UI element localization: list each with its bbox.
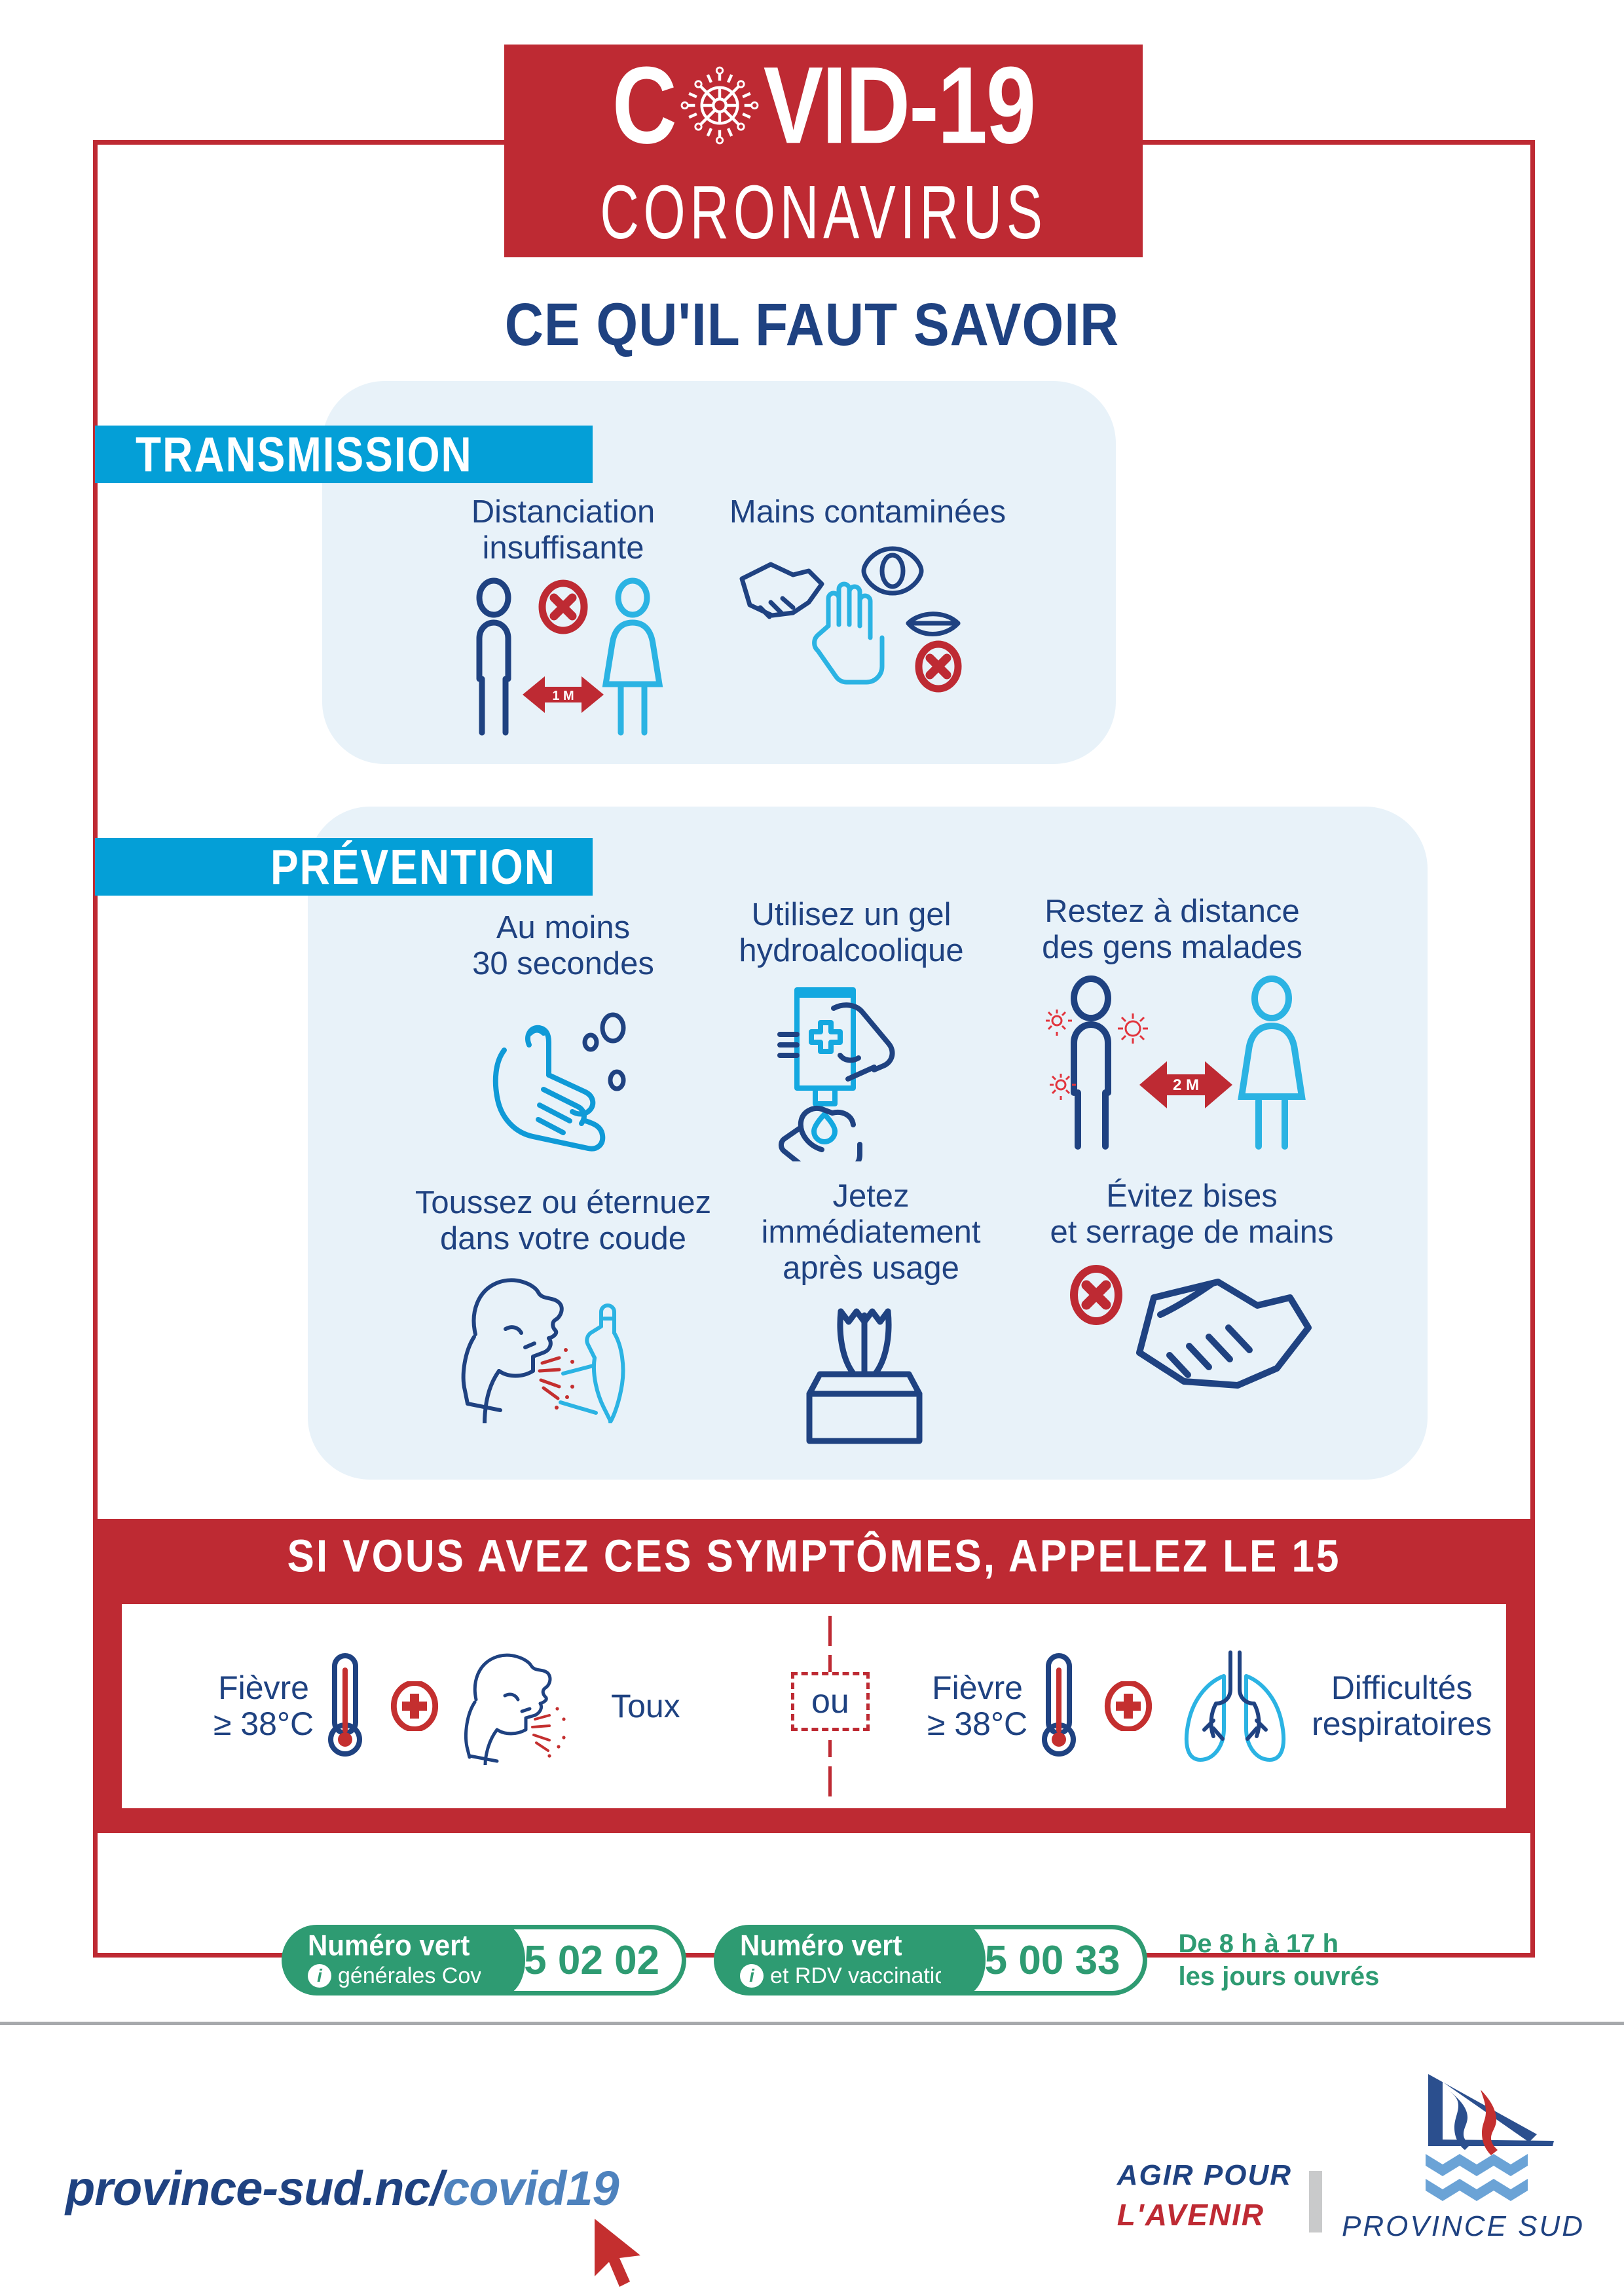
thermometer-icon [1039,1650,1079,1762]
prevention-item-no-handshake-caption: Évitez bises et serrage de mains [1050,1178,1333,1250]
open-hand-icon [815,584,882,682]
tissue-box-icon [773,1296,969,1446]
symptom-combo-fever-cough: Fièvre ≥ 38°C [213,1604,680,1808]
section-tab-prevention-label: PRÉVENTION [270,838,593,895]
coronavirus-icon [677,63,762,148]
cough-person-icon [452,1647,603,1765]
covid-letters-vid19: VID-19 [764,50,1035,160]
plus-badge-icon [390,1681,439,1731]
hotline-title-1: Numéro vert [308,1931,499,1959]
hotline-subtitle-row-2: i et RDV vaccination [740,1963,959,1989]
separator-tick-top [828,1616,832,1646]
symptoms-inner-panel: Fièvre ≥ 38°C [122,1604,1506,1808]
distance-label-1m: 1 M [552,689,574,703]
hotline-hours: De 8 h à 17 h les jours ouvrés [1179,1927,1380,1993]
forbidden-badge-icon [919,644,958,689]
transmission-item-distance: Distanciation insuffisante 1 M [432,494,694,739]
prevention-item-tissue: Jetez immédiatement après usage [740,1178,1002,1446]
two-people-distance-1m-icon: 1 M [445,575,681,739]
prevention-item-wash: Au moins 30 secondes [432,910,694,1155]
province-sud-name: PROVINCE SUD [1342,2210,1585,2243]
prevention-item-cough-elbow-caption: Toussez ou éternuez dans votre coude [415,1185,711,1257]
section-tab-transmission: TRANSMISSION [95,426,593,483]
section-tab-transmission-label: TRANSMISSION [95,426,473,483]
thermometer-icon [325,1650,365,1762]
symptom-fever-label-2: Fièvre ≥ 38°C [927,1670,1027,1742]
transmission-item-hands: Mains contaminées [714,494,1022,703]
prevention-item-wash-caption: Au moins 30 secondes [472,910,654,982]
hand-sanitizer-gel-icon [743,978,959,1161]
tagline-line2: L'AVENIR [1117,2197,1264,2232]
hotline-row: Numéro vert i générales Covid 05 02 02 N… [282,1925,1379,1995]
distance-label-2m: 2 M [1173,1076,1199,1094]
handshake-icon [742,564,822,615]
covid-letter-c: C [612,50,676,160]
sailboat-waves-icon [1365,2069,1562,2206]
mouse-cursor-icon [589,2216,648,2295]
symptoms-block: SI VOUS AVEZ CES SYMPTÔMES, APPELEZ LE 1… [97,1519,1531,1833]
droplets-icon [540,1348,574,1410]
info-icon: i [740,1964,764,1988]
brand-block: AGIR POUR L'AVENIR PROVINCE SUD [1117,2069,1585,2243]
symptoms-separator: ou [791,1604,870,1808]
separator-label-ou: ou [791,1672,870,1731]
plus-badge-icon [1103,1681,1153,1731]
page-title: CE QU'IL FAUT SAVOIR [0,291,1624,359]
province-sud-sailboat-logo: PROVINCE SUD [1342,2069,1585,2243]
lungs-icon [1166,1647,1304,1765]
hotline-title-2: Numéro vert [740,1931,959,1959]
prevention-item-no-handshake: Évitez bises et serrage de mains [1048,1178,1336,1410]
contaminated-hands-eye-mouth-icon [730,539,1005,703]
coronavirus-subtitle: CORONAVIRUS [600,170,1046,257]
brand-separator [1309,2171,1322,2232]
transmission-item-hands-caption: Mains contaminées [729,494,1006,530]
hotline-badge-general-left: Numéro vert i générales Covid [282,1925,503,1995]
site-url-domain: province-sud.nc/ [65,2161,443,2215]
site-url-path: covid19 [443,2161,619,2215]
forbidden-badge-icon [1074,1269,1118,1321]
prevention-item-gel-caption: Utilisez un gel hydroalcoolique [739,897,963,969]
separator-tick-bottom-2 [828,1766,832,1796]
wash-hands-icon [465,991,661,1155]
hotline-subtitle-1: générales Covid [338,1963,499,1989]
forbidden-badge-icon [542,583,584,630]
header-banner: C [504,45,1143,257]
hotline-subtitle-2: et RDV vaccination [770,1963,959,1989]
info-icon: i [308,1964,331,1988]
distance-arrow-2m: 2 M [1139,1061,1232,1108]
cough-into-elbow-icon [432,1266,694,1423]
symptom-combo-fever-breathing: Fièvre ≥ 38°C [927,1604,1492,1808]
hotline-subtitle-row-1: i générales Covid [308,1963,499,1989]
hotline-badge-vaccination-left: Numéro vert i et RDV vaccination [714,1925,963,1995]
symptom-breathing-label: Difficultés respiratoires [1312,1670,1492,1742]
site-url[interactable]: province-sud.nc/covid19 [65,2160,619,2216]
footer-divider [0,2022,1624,2025]
covid-wordmark: C [612,56,1035,155]
section-tab-prevention: PRÉVENTION [95,838,593,896]
prevention-item-distance-caption: Restez à distance des gens malades [1042,894,1302,966]
distance-arrow-1m: 1 M [523,676,604,713]
tagline: AGIR POUR L'AVENIR [1117,2159,1292,2232]
transmission-item-distance-caption: Distanciation insuffisante [471,494,655,566]
prevention-item-tissue-caption: Jetez immédiatement après usage [762,1178,981,1286]
prevention-item-distance: Restez à distance des gens malades 2 M [1008,894,1336,1152]
prevention-item-gel: Utilisez un gel hydroalcoolique [714,897,989,1161]
hotline-badge-general[interactable]: Numéro vert i générales Covid 05 02 02 [282,1925,686,1995]
no-handshake-icon [1061,1260,1323,1410]
symptom-fever-label-1: Fièvre ≥ 38°C [213,1670,314,1742]
symptom-cough-label: Toux [611,1688,680,1724]
separator-tick-top-2 [828,1655,832,1672]
prevention-item-cough-elbow: Toussez ou éternuez dans votre coude [406,1185,720,1423]
separator-tick-bottom-1 [828,1740,832,1757]
tagline-line1: AGIR POUR [1117,2159,1292,2192]
keep-distance-sick-people-icon: 2 M [1028,975,1316,1152]
symptoms-title: SI VOUS AVEZ CES SYMPTÔMES, APPELEZ LE 1… [97,1531,1531,1583]
hotline-badge-vaccination[interactable]: Numéro vert i et RDV vaccination 05 00 3… [714,1925,1147,1995]
